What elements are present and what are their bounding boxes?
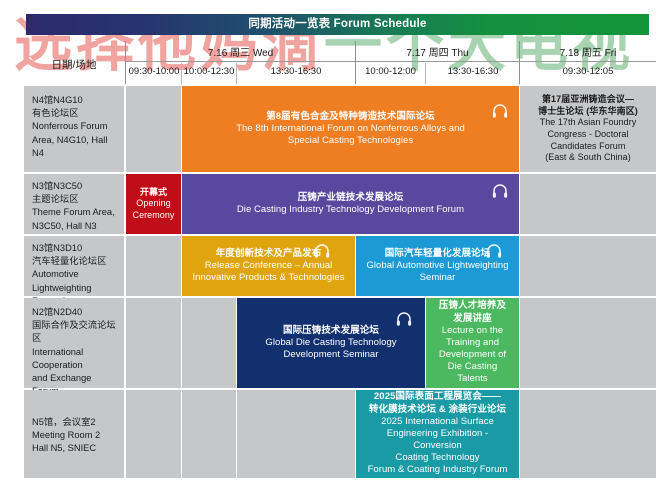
event-opening-ceremony-en1: Opening <box>136 198 170 210</box>
event-die-casting-industry-forum[interactable]: 压铸产业链技术发展论坛 Die Casting Industry Technol… <box>182 174 519 234</box>
empty-cell-r4c3 <box>237 390 355 478</box>
headphones-icon <box>485 242 503 260</box>
header-corner-label: 日期/场地 <box>24 57 124 72</box>
empty-cell-r1c5 <box>520 174 656 234</box>
empty-cell-r0c1 <box>126 86 181 172</box>
venue-cell-3: N2馆N2D40 国际合作及交流论坛区 International Cooper… <box>24 298 124 388</box>
event-surface-engineering-exhibition[interactable]: 2025国际表面工程展览会—— 转化膜技术论坛 & 涂装行业论坛 2025 In… <box>356 390 519 478</box>
event-lightweighting-seminar[interactable]: 国际汽车轻量化发展论坛 Global Automotive Lightweigh… <box>356 236 519 296</box>
venue-cell-0: N4馆N4G10 有色论坛区 Nonferrous Forum Area, N4… <box>24 86 124 172</box>
header-time-0: 09:30-10:00 <box>126 66 182 77</box>
event-asian-foundry-en2: Congress - Doctoral <box>548 129 629 141</box>
event-surface-cn2: 转化膜技术论坛 & 涂装行业论坛 <box>369 404 506 416</box>
venue-2-line2: 汽车轻量化论坛区 <box>32 255 116 268</box>
event-talents-cn2: 发展讲座 <box>453 313 491 325</box>
event-global-die-casting-en2: Development Seminar <box>284 349 379 361</box>
event-surface-cn1: 2025国际表面工程展览会—— <box>374 391 501 403</box>
event-nonferrous-forum-cn: 第8届有色合金及特种铸造技术国际论坛 <box>266 111 435 123</box>
event-asian-foundry-cn2: 博士生论坛 (华东华南区) <box>538 106 638 118</box>
header-vline-1 <box>181 63 182 84</box>
event-nonferrous-forum[interactable]: 第8届有色合金及特种铸造技术国际论坛 The 8th International… <box>182 86 519 172</box>
event-asian-foundry-en1: The 17th Asian Foundry <box>540 117 637 129</box>
event-asian-foundry-cn1: 第17届亚洲铸造会议— <box>542 94 634 106</box>
page-title: 同期活动一览表 Forum Schedule <box>26 14 649 35</box>
venue-0-line2: 有色论坛区 <box>32 107 116 120</box>
event-surface-en3: Coating Technology <box>395 452 479 464</box>
header-time-2: 13:30-16:30 <box>237 66 355 77</box>
header-vline-2 <box>236 63 237 84</box>
event-talents-en1: Lecture on the <box>442 325 503 337</box>
header-divider <box>126 61 656 62</box>
event-talents-cn1: 压铸人才培养及 <box>439 300 506 312</box>
venue-3-line2: 国际合作及交流论坛区 <box>32 319 116 345</box>
event-asian-foundry-en4: (East & South China) <box>545 152 631 164</box>
headphones-icon <box>491 102 509 120</box>
header-time-3: 10:00-12:00 <box>356 66 425 77</box>
venue-0-line1: N4馆N4G10 <box>32 94 116 107</box>
header-vline-4 <box>425 63 426 84</box>
event-global-die-casting-en1: Global Die Casting Technology <box>265 337 396 349</box>
venue-3-line1: N2馆N2D40 <box>32 306 116 319</box>
venue-4-line1: N5馆，会议室2 <box>32 416 116 429</box>
event-die-casting-talents-lecture[interactable]: 压铸人才培养及 发展讲座 Lecture on the Training and… <box>426 298 519 388</box>
event-release-conference[interactable]: 年度创新技术及产品发布 Release Conference – Annual … <box>182 236 355 296</box>
header-time-4: 13:30-16:30 <box>426 66 520 77</box>
event-talents-en2: Training and <box>446 337 499 349</box>
header-vline-3 <box>355 41 356 84</box>
event-release-conference-cn: 年度创新技术及产品发布 <box>216 248 322 260</box>
event-surface-en4: Forum & Coating Industry Forum <box>368 464 508 476</box>
event-lightweighting-en2: Seminar <box>420 272 456 284</box>
venue-1-line1: N3馆N3C50 <box>32 180 116 193</box>
event-global-die-casting-cn: 国际压铸技术发展论坛 <box>283 325 379 337</box>
venue-0-line4: Area, N4G10, Hall N4 <box>32 134 116 160</box>
venue-4-line3: Hall N5, SNIEC <box>32 442 116 455</box>
header-time-1: 10:00-12:30 <box>182 66 236 77</box>
event-die-casting-industry-cn: 压铸产业链技术发展论坛 <box>298 192 404 204</box>
headphones-icon <box>491 182 509 200</box>
venue-2-line1: N3馆N3D10 <box>32 242 116 255</box>
header-day-0: 7.16 周三 Wed <box>126 44 355 59</box>
venue-cell-1: N3馆N3C50 主题论坛区 Theme Forum Area, N3C50, … <box>24 174 124 234</box>
empty-cell-r2c5 <box>520 236 656 296</box>
empty-cell-r4c1 <box>126 390 181 478</box>
empty-cell-r3c5 <box>520 298 656 388</box>
empty-cell-r4c2 <box>182 390 236 478</box>
empty-cell-r3c1 <box>126 298 181 388</box>
venue-2-line3: Automotive Lightweighting <box>32 268 116 294</box>
event-global-die-casting-seminar[interactable]: 国际压铸技术发展论坛 Global Die Casting Technology… <box>237 298 425 388</box>
event-asian-foundry-congress[interactable]: 第17届亚洲铸造会议— 博士生论坛 (华东华南区) The 17th Asian… <box>520 86 656 172</box>
header-vline-0 <box>125 41 126 84</box>
venue-1-line3: Theme Forum Area, <box>32 206 116 219</box>
header-time-5: 09:30-12:05 <box>520 66 656 77</box>
event-lightweighting-cn: 国际汽车轻量化发展论坛 <box>385 248 491 260</box>
header-vline-5 <box>519 41 520 84</box>
venue-3-line3: International Cooperation <box>32 346 116 372</box>
event-nonferrous-forum-en2: Special Casting Technologies <box>288 135 413 147</box>
event-opening-ceremony-en2: Ceremony <box>133 210 175 222</box>
venue-0-line3: Nonferrous Forum <box>32 120 116 133</box>
event-opening-ceremony-cn: 开幕式 <box>140 187 167 199</box>
venue-cell-2: N3馆N3D10 汽车轻量化论坛区 Automotive Lightweight… <box>24 236 124 296</box>
empty-cell-r3c2 <box>182 298 236 388</box>
empty-cell-r4c5 <box>520 390 656 478</box>
event-talents-en3: Development of <box>439 349 506 361</box>
venue-4-line2: Meeting Room 2 <box>32 429 116 442</box>
venue-1-line4: N3C50, Hall N3 <box>32 220 116 233</box>
event-die-casting-industry-en: Die Casting Industry Technology Developm… <box>237 204 464 216</box>
venue-cell-4: N5馆，会议室2 Meeting Room 2 Hall N5, SNIEC <box>24 390 124 478</box>
event-asian-foundry-en3: Candidates Forum <box>551 141 626 153</box>
header-day-1: 7.17 周四 Thu <box>356 44 519 59</box>
forum-schedule-page: 选择他妈滴一个大电视 同期活动一览表 Forum Schedule 日期/场地 … <box>0 0 657 500</box>
event-surface-en1: 2025 International Surface <box>381 416 494 428</box>
empty-cell-r2c1 <box>126 236 181 296</box>
event-release-conference-en2: Innovative Products & Technologies <box>192 272 344 284</box>
headphones-icon <box>313 242 331 260</box>
headphones-icon <box>395 310 413 328</box>
event-lightweighting-en1: Global Automotive Lightweighting <box>366 260 508 272</box>
event-talents-en4: Die Casting Talents <box>432 361 513 385</box>
event-release-conference-en1: Release Conference – Annual <box>205 260 333 272</box>
event-opening-ceremony[interactable]: 开幕式 Opening Ceremony <box>126 174 181 234</box>
event-nonferrous-forum-en1: The 8th International Forum on Nonferrou… <box>236 123 465 135</box>
venue-1-line2: 主题论坛区 <box>32 193 116 206</box>
event-surface-en2: Engineering Exhibition - Conversion <box>362 428 513 452</box>
header-day-2: 7.18 周五 Fri <box>520 44 656 59</box>
